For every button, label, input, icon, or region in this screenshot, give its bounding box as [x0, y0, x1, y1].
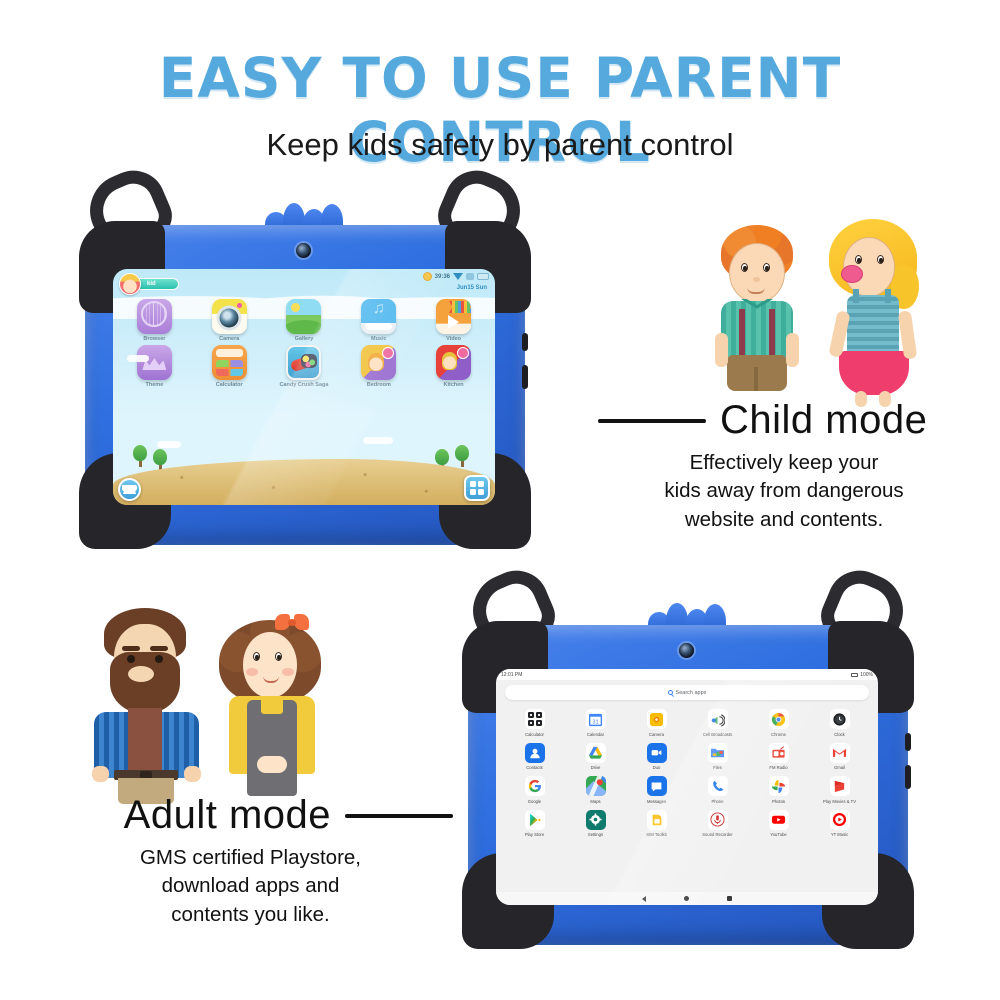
kitchen-icon	[436, 345, 471, 380]
android-status-bar: 12:01 PM 100%	[496, 669, 878, 680]
cell-broadcasts-icon	[708, 709, 728, 729]
child-mode-line-2: kids away from dangerous	[598, 477, 970, 505]
android-app-label: Play Store	[525, 832, 544, 837]
kids-app-label: Kitchen	[444, 382, 464, 388]
boy-suspender-right	[769, 309, 775, 359]
camera-icon	[212, 299, 247, 334]
youtube-icon	[769, 810, 789, 830]
kids-app-label: Video	[446, 336, 461, 342]
kids-app-label: Music	[371, 336, 387, 342]
settings-icon	[586, 810, 606, 830]
android-app-play-movies[interactable]: Play Movies & TV	[809, 776, 870, 804]
child-mode-block: Child mode Effectively keep your kids aw…	[598, 398, 970, 534]
man-hand-right	[184, 766, 201, 782]
boy-arm-right	[786, 333, 799, 367]
android-app-phone[interactable]: Phone	[687, 776, 748, 804]
battery-icon	[851, 673, 858, 677]
man-eyebrow-left	[122, 646, 140, 651]
adult-mode-heading-row: Adult mode	[48, 793, 453, 838]
app-drawer-button[interactable]	[464, 475, 490, 501]
woman-blush-right	[282, 668, 294, 676]
kids-status-time: 39:36	[435, 274, 450, 280]
front-camera-icon	[296, 243, 311, 258]
kids-app-label: Calculator	[216, 382, 243, 388]
video-icon	[436, 299, 471, 334]
kids-app-label: Bedroom	[367, 382, 391, 388]
android-app-label: Play Movies & TV	[823, 799, 856, 804]
adult-mode-line-2: download apps and	[48, 872, 453, 900]
theme-icon	[137, 345, 172, 380]
duo-icon	[647, 743, 667, 763]
android-app-label: Calendar	[587, 732, 604, 737]
child-mode-description: Effectively keep your kids away from dan…	[598, 449, 970, 534]
android-app-google[interactable]: Google	[504, 776, 565, 804]
android-app-label: SIM Toolkit	[646, 832, 666, 837]
photos-icon	[769, 776, 789, 796]
boy-nose	[753, 277, 760, 282]
android-app-label: Clock	[834, 732, 844, 737]
android-app-label: Sound Recorder	[702, 832, 733, 837]
google-icon	[525, 776, 545, 796]
lock-icon	[466, 273, 474, 280]
fm-radio-icon	[769, 743, 789, 763]
android-app-youtube[interactable]: YouTube	[748, 810, 809, 838]
man-character	[88, 608, 213, 803]
kids-app-camera[interactable]: Camera	[192, 299, 267, 342]
power-button[interactable]	[905, 733, 911, 751]
man-eyebrow-right	[150, 646, 168, 651]
android-app-files[interactable]: Files	[687, 743, 748, 771]
android-app-duo[interactable]: Duo	[626, 743, 687, 771]
kids-app-music[interactable]: Music	[341, 299, 416, 342]
calculator-icon	[525, 709, 545, 729]
calculator-icon	[212, 345, 247, 380]
music-icon	[361, 299, 396, 334]
adult-mode-description: GMS certified Playstore, download apps a…	[48, 844, 453, 929]
divider-rule	[345, 814, 453, 818]
adult-mode-line-1: GMS certified Playstore,	[48, 844, 453, 872]
phone-icon	[708, 776, 728, 796]
android-app-settings[interactable]: Settings	[565, 810, 626, 838]
kids-status-bar: 39:36	[423, 272, 489, 281]
play-movies-icon	[830, 776, 850, 796]
android-app-photos[interactable]: Photos	[748, 776, 809, 804]
android-tablet-product-photo: 12:01 PM 100% Search apps Calculator	[468, 625, 908, 945]
woman-hands	[257, 756, 287, 773]
android-app-drawer-screen[interactable]: 12:01 PM 100% Search apps Calculator	[496, 669, 878, 905]
back-icon[interactable]	[642, 896, 646, 902]
android-app-contacts[interactable]: Contacts	[504, 743, 565, 771]
search-apps-bar[interactable]: Search apps	[505, 685, 869, 700]
page-subtitle: Keep kids safety by parent control	[0, 127, 1000, 163]
child-mode-line-1: Effectively keep your	[598, 449, 970, 477]
android-app-clock[interactable]: Clock	[809, 709, 870, 737]
girl-eye-right	[877, 255, 884, 264]
yt-music-icon	[830, 810, 850, 830]
girl-character	[815, 215, 940, 405]
android-app-label: Contacts	[526, 765, 543, 770]
cloud-decoration	[157, 441, 181, 448]
child-mode-title: Child mode	[720, 398, 927, 443]
calendar-icon: 31	[586, 709, 606, 729]
android-app-label: Drive	[591, 765, 601, 770]
man-hand-left	[92, 766, 109, 782]
kids-status-date: Jun15 Sun	[457, 285, 487, 291]
browser-icon	[137, 299, 172, 334]
android-app-chrome[interactable]: Chrome	[748, 709, 809, 737]
kids-app-theme[interactable]: Theme	[117, 345, 192, 388]
wifi-icon	[453, 273, 463, 280]
kids-app-gallery[interactable]: Gallery	[267, 299, 342, 342]
divider-rule	[598, 419, 706, 423]
kids-app-label: Theme	[146, 382, 164, 388]
boy-head	[729, 243, 785, 303]
boy-shirt	[721, 301, 793, 357]
kids-app-video[interactable]: Video	[416, 299, 491, 342]
boy-suspender-left	[739, 309, 745, 359]
search-icon	[668, 690, 673, 695]
files-icon	[708, 743, 728, 763]
android-app-calculator[interactable]: Calculator	[504, 709, 565, 737]
boy-shorts-seam	[754, 367, 758, 391]
woman-character	[213, 612, 333, 804]
bedroom-icon	[361, 345, 396, 380]
ground-decoration	[113, 459, 495, 505]
android-nav-bar	[496, 892, 878, 905]
woman-head	[243, 632, 297, 698]
android-app-sim-toolkit[interactable]: SIM Toolkit	[626, 810, 687, 838]
android-app-messages[interactable]: Messages	[626, 776, 687, 804]
power-button[interactable]	[522, 333, 528, 351]
sim-toolkit-icon	[647, 810, 667, 830]
avatar	[119, 273, 141, 295]
maps-icon	[586, 776, 606, 796]
android-app-fm-radio[interactable]: FM Radio	[748, 743, 809, 771]
adult-mode-block: Adult mode GMS certified Playstore, down…	[48, 793, 453, 929]
adult-mode-line-3: contents you like.	[48, 901, 453, 929]
android-app-label: Chrome	[771, 732, 786, 737]
android-app-label: Photos	[772, 799, 785, 804]
android-app-label: Camera	[649, 732, 664, 737]
clock-icon	[830, 709, 850, 729]
drive-icon	[586, 743, 606, 763]
android-app-label: Duo	[653, 765, 661, 770]
kids-app-calculator[interactable]: Calculator	[192, 345, 267, 388]
android-app-label: Settings	[588, 832, 603, 837]
android-app-label: Gmail	[834, 765, 845, 770]
android-app-label: Maps	[590, 799, 600, 804]
recents-icon[interactable]	[727, 896, 732, 901]
child-mode-heading-row: Child mode	[598, 398, 970, 443]
kids-app-candy-crush[interactable]: Candy Crush Saga	[267, 345, 342, 388]
parent-control-button[interactable]	[118, 478, 141, 501]
cloud-decoration	[127, 355, 149, 362]
play-store-icon	[525, 810, 545, 830]
sound-recorder-icon	[708, 810, 728, 830]
android-app-label: Google	[528, 799, 542, 804]
man-mouth-area	[128, 666, 154, 682]
android-app-play-store[interactable]: Play Store	[504, 810, 565, 838]
android-app-calendar[interactable]: 31 Calendar	[565, 709, 626, 737]
kids-tablet-bezel: kid 39:36 Jun15 Sun Browser Camera	[113, 269, 495, 505]
kids-launcher-screen[interactable]: kid 39:36 Jun15 Sun Browser Camera	[113, 269, 495, 505]
man-beard	[110, 652, 180, 714]
kids-app-label: Camera	[219, 336, 239, 342]
android-battery-level: 100%	[860, 672, 873, 678]
kid-profile-chip[interactable]: kid	[119, 273, 179, 295]
kids-app-kitchen[interactable]: Kitchen	[416, 345, 491, 388]
android-app-label: Calculator	[525, 732, 544, 737]
woman-eye-right	[275, 652, 282, 661]
boy-arm-left	[715, 333, 728, 367]
android-app-label: YouTube	[770, 832, 786, 837]
woman-eye-left	[253, 652, 260, 661]
kids-tablet-product-photo: kid 39:36 Jun15 Sun Browser Camera	[85, 225, 525, 545]
camera-icon	[647, 709, 667, 729]
android-app-maps[interactable]: Maps	[565, 776, 626, 804]
children-illustration	[695, 215, 955, 400]
android-app-sound-recorder[interactable]: Sound Recorder	[687, 810, 748, 838]
android-app-label: FM Radio	[769, 765, 787, 770]
android-app-label: Messages	[647, 799, 666, 804]
home-icon[interactable]	[684, 896, 689, 901]
kids-app-browser[interactable]: Browser	[117, 299, 192, 342]
gallery-icon	[286, 299, 321, 334]
chrome-icon	[769, 709, 789, 729]
boy-character	[705, 225, 815, 400]
messages-icon	[647, 776, 667, 796]
child-mode-line-3: website and contents.	[598, 506, 970, 534]
android-app-gmail[interactable]: Gmail	[809, 743, 870, 771]
hair-bow-icon	[275, 614, 309, 630]
kids-app-grid: Browser Camera Gallery Music Video	[117, 299, 491, 388]
kids-app-bedroom[interactable]: Bedroom	[341, 345, 416, 388]
girl-strap-left	[853, 289, 859, 303]
girl-eye-left	[855, 255, 862, 264]
android-app-label: Cell Broadcasts	[703, 732, 732, 737]
contacts-icon	[525, 743, 545, 763]
android-app-camera[interactable]: Camera	[626, 709, 687, 737]
adult-mode-title: Adult mode	[124, 793, 331, 838]
android-app-label: Files	[713, 765, 722, 770]
bubblegum-bubble	[841, 265, 863, 283]
girl-top	[847, 295, 899, 357]
android-tablet-bezel: 12:01 PM 100% Search apps Calculator	[496, 669, 878, 905]
man-eye-right	[155, 655, 163, 663]
search-placeholder: Search apps	[676, 690, 707, 696]
adults-illustration	[88, 600, 338, 805]
kids-app-label: Gallery	[295, 336, 314, 342]
girl-strap-right	[885, 289, 891, 303]
svg-text:31: 31	[592, 719, 598, 725]
man-eye-left	[127, 655, 135, 663]
boy-eye-left	[741, 263, 748, 272]
clock-icon	[423, 272, 432, 281]
volume-button[interactable]	[905, 765, 911, 789]
boy-eye-right	[763, 263, 770, 272]
android-app-label: YT Music	[831, 832, 848, 837]
kids-app-label: Browser	[143, 336, 165, 342]
woman-collar	[261, 698, 283, 714]
android-app-label: Phone	[711, 799, 723, 804]
candy-crush-icon	[286, 345, 321, 380]
girl-skirt	[839, 351, 909, 395]
kids-app-label: Candy Crush Saga	[280, 382, 329, 388]
gmail-icon	[830, 743, 850, 763]
volume-button[interactable]	[522, 365, 528, 389]
woman-blush-left	[246, 668, 258, 676]
android-status-time: 12:01 PM	[501, 672, 522, 678]
android-app-grid: Calculator 31 Calendar Camera	[496, 707, 878, 892]
front-camera-icon	[679, 643, 694, 658]
android-app-drive[interactable]: Drive	[565, 743, 626, 771]
woman-apron	[247, 700, 297, 796]
cloud-decoration	[363, 437, 393, 444]
android-app-cell-broadcasts[interactable]: Cell Broadcasts	[687, 709, 748, 737]
android-app-yt-music[interactable]: YT Music	[809, 810, 870, 838]
battery-icon	[477, 273, 489, 280]
